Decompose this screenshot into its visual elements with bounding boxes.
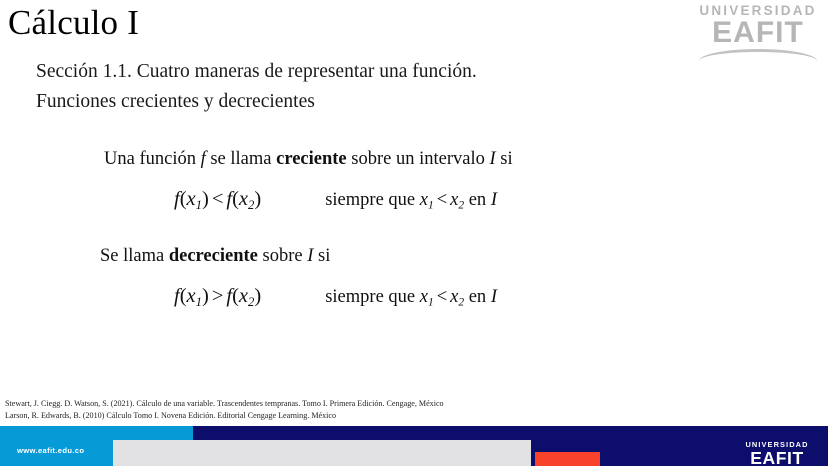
eq-dec-cond-sub2: 2 [458,297,464,309]
citation-line-1: Stewart, J. Ciegg. D. Watson, S. (2021).… [5,398,444,410]
stmt-inc-prefix: Una función [104,149,196,169]
equation-increasing-formula: f(x1)<f(x2) [174,188,261,213]
eafit-logo-header: UNIVERSIDAD EAFIT [694,3,822,61]
eq-inc-cond-prefix: siempre que [325,190,415,210]
eq-dec-cond-end: en [469,287,486,307]
eq-inc-x-2: x [239,188,248,210]
citation-block: Stewart, J. Ciegg. D. Watson, S. (2021).… [5,398,444,421]
eq-dec-close-2: ) [254,285,261,307]
eq-dec-open-2: ( [232,285,239,307]
stmt-inc-emphasis: creciente [276,149,347,169]
footer-grey-panel [113,440,531,466]
stmt-dec-end: si [318,246,330,266]
eq-inc-relation: < [209,188,227,210]
section-line-1: Sección 1.1. Cuatro maneras de represent… [36,57,477,87]
equation-increasing: f(x1)<f(x2)siempre que x1<x2 en I [104,188,724,213]
footer-red-block [535,452,600,466]
stmt-dec-suffix: sobre [263,246,303,266]
eq-inc-cond-end: en [469,190,486,210]
section-heading: Sección 1.1. Cuatro maneras de represent… [36,57,477,117]
eq-dec-relation: > [209,285,227,307]
equation-increasing-condition: siempre que x1<x2 en I [325,190,497,212]
eq-dec-cond-prefix: siempre que [325,287,415,307]
footer-logo-eafit-text: EAFIT [736,449,818,466]
eq-dec-cond-x1: x [420,287,428,307]
stmt-inc-var-f: f [201,149,206,169]
eq-inc-cond-relation: < [434,190,450,210]
eq-dec-x-1: x [187,285,196,307]
equation-decreasing-formula: f(x1)>f(x2) [174,285,261,310]
page-title: Cálculo I [8,2,139,44]
stmt-dec-emphasis: decreciente [169,246,258,266]
eq-inc-close-2: ) [254,188,261,210]
eq-inc-cond-sub1: 1 [428,200,434,212]
definition-body: Una función f se llama creciente sobre u… [104,146,724,310]
eq-inc-x-1: x [187,188,196,210]
eq-inc-open-1: ( [180,188,187,210]
eafit-logo-footer: UNIVERSIDAD EAFIT [736,440,818,466]
eq-inc-open-2: ( [232,188,239,210]
citation-line-2: Larson, R. Edwards, B. (2010) Cálculo To… [5,410,444,422]
equation-decreasing: f(x1)>f(x2)siempre que x1<x2 en I [104,285,724,310]
stmt-inc-var-I: I [489,149,495,169]
eq-dec-cond-sub1: 1 [428,297,434,309]
eq-dec-open-1: ( [180,285,187,307]
eq-dec-cond-relation: < [434,287,450,307]
stmt-inc-middle: se llama [210,149,271,169]
logo-eafit-text: EAFIT [694,18,822,48]
eq-dec-close-1: ) [202,285,209,307]
eq-dec-cond-interval: I [491,287,497,307]
stmt-dec-var-I: I [307,246,313,266]
eq-inc-cond-x1: x [420,190,428,210]
eq-inc-close-1: ) [202,188,209,210]
eq-dec-x-2: x [239,285,248,307]
statement-decreasing: Se llama decreciente sobre I si [100,243,724,269]
logo-arc-icon [699,49,817,61]
eq-inc-cond-sub2: 2 [458,200,464,212]
eq-inc-cond-interval: I [491,190,497,210]
footer-website-url[interactable]: www.eafit.edu.co [17,446,84,455]
statement-increasing: Una función f se llama creciente sobre u… [104,146,724,172]
stmt-inc-suffix: sobre un intervalo [351,149,485,169]
section-line-2: Funciones crecientes y decrecientes [36,87,477,117]
slide-canvas: Cálculo I UNIVERSIDAD EAFIT Sección 1.1.… [0,0,828,466]
stmt-dec-prefix: Se llama [100,246,164,266]
equation-decreasing-condition: siempre que x1<x2 en I [325,287,497,309]
stmt-inc-end: si [500,149,512,169]
